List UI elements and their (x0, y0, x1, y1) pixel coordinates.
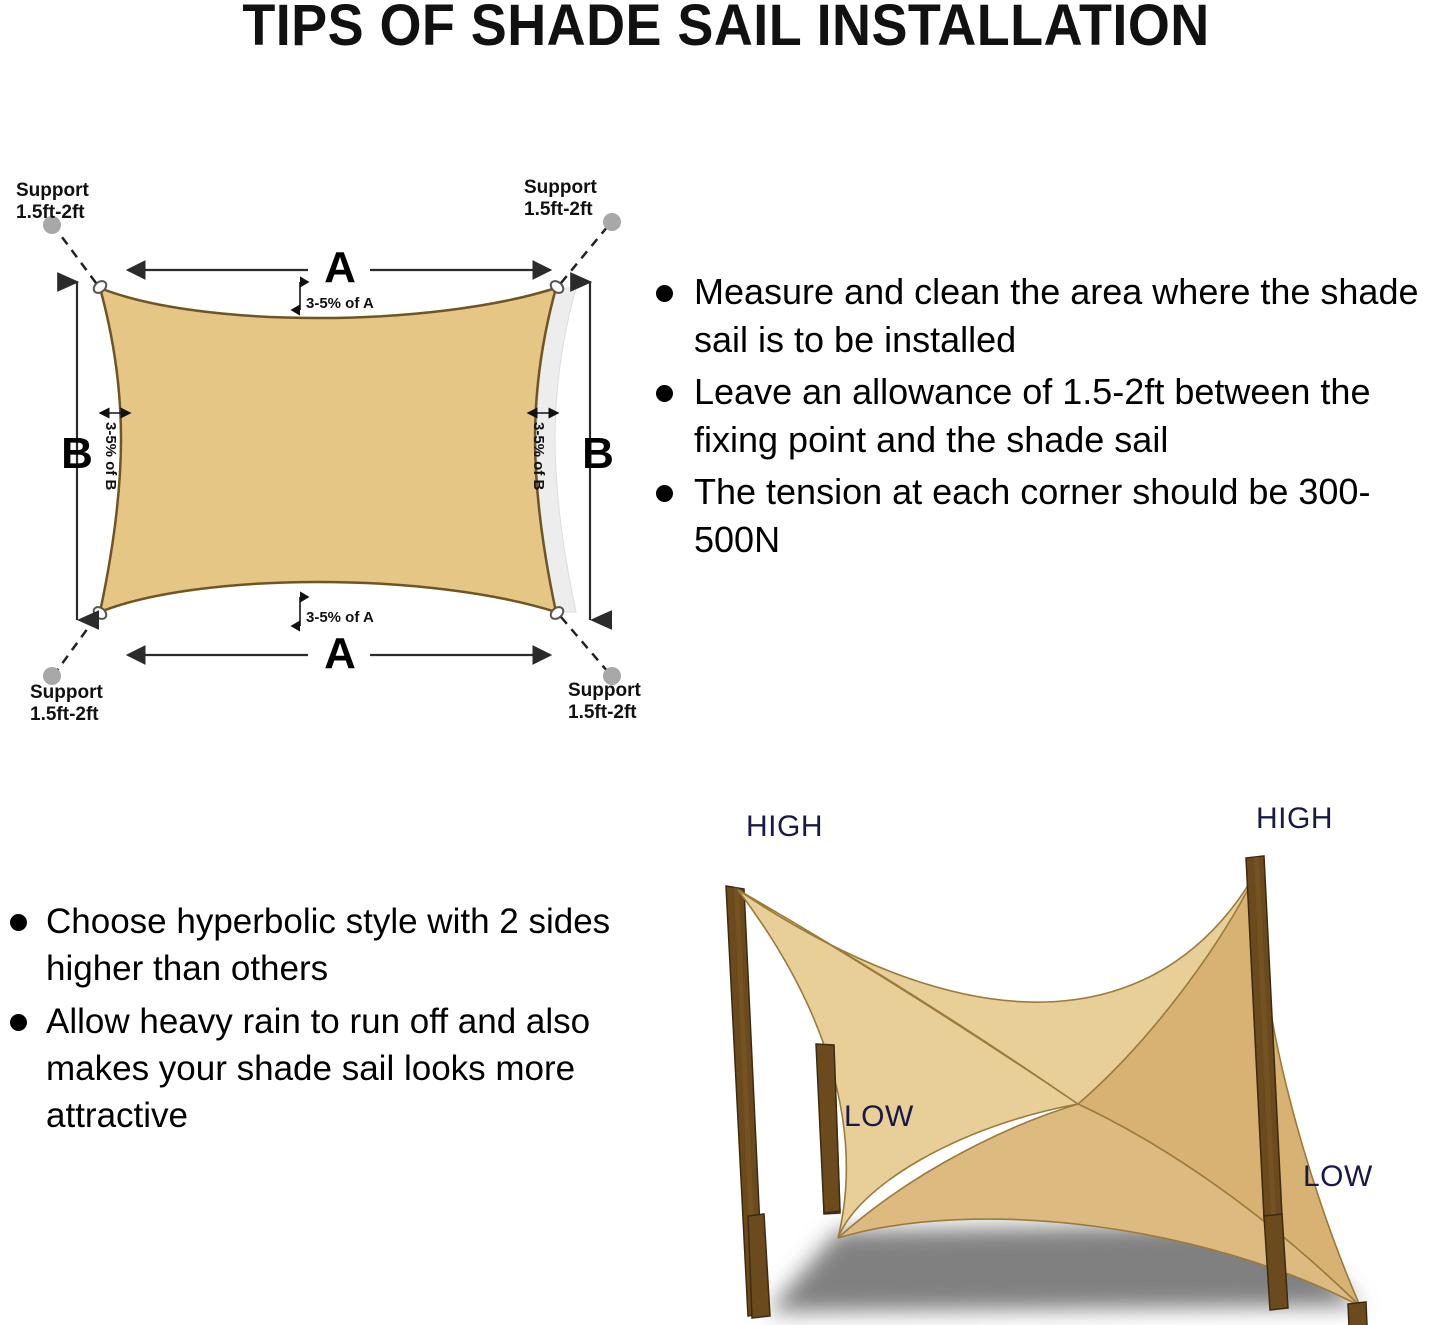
list-item: The tension at each corner should be 300… (648, 468, 1452, 564)
support-label-top-left: Support 1.5ft-2ft (16, 180, 89, 223)
support-label-bottom-left: Support 1.5ft-2ft (30, 682, 103, 725)
support-label-line2: 1.5ft-2ft (16, 202, 85, 223)
dimension-label-a-bottom: A (324, 629, 356, 678)
support-label-line1: Support (16, 180, 89, 201)
dimension-label-b-right: B (582, 429, 614, 478)
support-label-line1: Support (30, 682, 103, 703)
list-item: Leave an allowance of 1.5-2ft between th… (648, 368, 1452, 464)
pole-low-left-visible (818, 1216, 838, 1228)
label-high-left: HIGH (746, 810, 823, 843)
support-label-top-right: Support 1.5ft-2ft (524, 177, 597, 220)
support-label-line1: Support (524, 177, 597, 198)
dimension-label-b-left: B (61, 429, 93, 478)
hyperbolic-sail-illustration: HIGH HIGH LOW LOW (648, 786, 1452, 1325)
list-item: Choose hyperbolic style with 2 sides hig… (0, 898, 630, 992)
support-label-line2: 1.5ft-2ft (568, 702, 637, 723)
curve-label-bottom: 3-5% of A (306, 609, 374, 626)
curve-label-right: 3-5% of B (530, 422, 547, 491)
label-low-right: LOW (1303, 1160, 1373, 1193)
dimension-label-a-top: A (324, 243, 356, 292)
pole-low-right (1348, 1302, 1374, 1325)
support-dot-top-right (603, 213, 621, 231)
curve-label-top: 3-5% of A (306, 295, 374, 312)
page-title: TIPS OF SHADE SAIL INSTALLATION (51, 0, 1401, 57)
pole-high-left-lower (748, 1214, 770, 1318)
support-label-line2: 1.5ft-2ft (524, 199, 593, 220)
list-item: Measure and clean the area where the sha… (648, 268, 1452, 364)
curve-label-left: 3-5% of B (102, 422, 119, 491)
installation-tips-list: Measure and clean the area where the sha… (648, 268, 1452, 568)
support-label-line1: Support (568, 680, 641, 701)
support-label-bottom-right: Support 1.5ft-2ft (568, 680, 641, 723)
rectangular-sail-diagram: Support 1.5ft-2ft Support 1.5ft-2ft Supp… (0, 160, 660, 740)
hyperbolic-tips-list: Choose hyperbolic style with 2 sides hig… (0, 898, 630, 1145)
label-low-left: LOW (844, 1100, 914, 1133)
support-label-line2: 1.5ft-2ft (30, 704, 99, 725)
label-high-right: HIGH (1256, 802, 1333, 835)
list-item: Allow heavy rain to run off and also mak… (0, 998, 630, 1139)
shade-sail-shape (100, 288, 556, 612)
